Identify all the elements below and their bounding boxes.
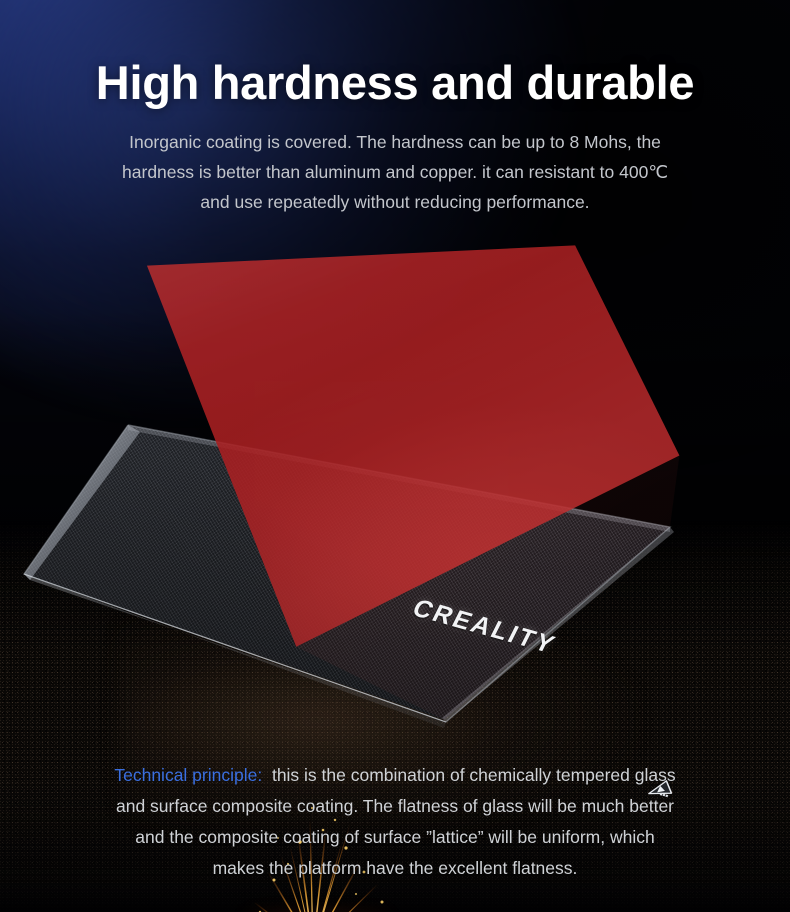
caption-line-1: Technical principle: this is the combina…	[24, 760, 766, 791]
technical-principle-label: Technical principle:	[114, 765, 262, 785]
description-line: hardness is better than aluminum and cop…	[40, 157, 750, 187]
caption-text: this is the combination of chemically te…	[272, 765, 676, 785]
caption-line-3: and the composite coating of surface ”la…	[24, 822, 766, 853]
product-illustration: CREALITY	[0, 236, 790, 756]
technical-principle-caption: Technical principle: this is the combina…	[0, 760, 790, 884]
header-text-block: High hardness and durable Inorganic coat…	[0, 58, 790, 217]
description-line: and use repeatedly without reducing perf…	[40, 187, 750, 217]
caption-line-2: and surface composite coating. The flatn…	[24, 791, 766, 822]
product-feature-banner: High hardness and durable Inorganic coat…	[0, 0, 790, 912]
page-title: High hardness and durable	[0, 58, 790, 108]
caption-line-4: makes the platform have the excellent fl…	[24, 853, 766, 884]
header-description: Inorganic coating is covered. The hardne…	[0, 127, 790, 217]
description-line: Inorganic coating is covered. The hardne…	[40, 127, 750, 157]
